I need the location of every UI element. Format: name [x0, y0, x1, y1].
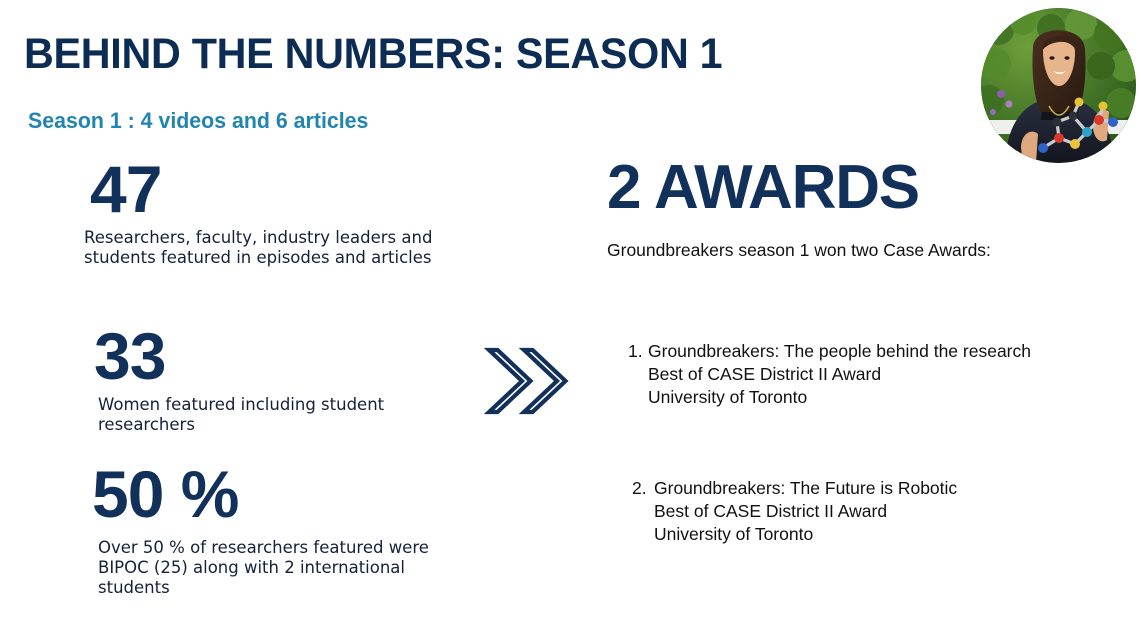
- stat-description: Researchers, faculty, industry leaders a…: [84, 228, 456, 268]
- awards-column: 2 AWARDS Groundbreakers season 1 won two…: [607, 158, 1107, 262]
- awards-intro-text: Groundbreakers season 1 won two Case Awa…: [607, 239, 1007, 262]
- list-item: 2. Groundbreakers: The Future is Robotic…: [632, 477, 957, 546]
- award-institution: University of Toronto: [654, 523, 957, 546]
- list-item-body: Groundbreakers: The people behind the re…: [648, 340, 1031, 409]
- list-item-marker: 1.: [628, 340, 648, 363]
- award-title: Groundbreakers: The people behind the re…: [648, 340, 1031, 363]
- slide-canvas: BEHIND THE NUMBERS: SEASON 1 Season 1 : …: [0, 0, 1141, 639]
- page-subtitle: Season 1 : 4 videos and 6 articles: [28, 109, 368, 133]
- page-title: BEHIND THE NUMBERS: SEASON 1: [24, 33, 722, 76]
- award-name: Best of CASE District II Award: [654, 500, 957, 523]
- stat-number: 47: [84, 158, 484, 221]
- award-title: Groundbreakers: The Future is Robotic: [654, 477, 957, 500]
- portrait-photo: [981, 8, 1136, 163]
- stat-description: Over 50 % of researchers featured were B…: [84, 538, 480, 598]
- award-institution: University of Toronto: [648, 386, 1031, 409]
- stat-block: 50 % Over 50 % of researchers featured w…: [84, 463, 484, 598]
- list-item-body: Groundbreakers: The Future is Robotic Be…: [654, 477, 957, 546]
- list-item-marker: 2.: [632, 477, 654, 500]
- stat-number: 50 %: [84, 463, 484, 526]
- stat-block: 33 Women featured including student rese…: [84, 325, 484, 435]
- award-name: Best of CASE District II Award: [648, 363, 1031, 386]
- double-chevron-right-icon: [484, 342, 574, 420]
- stat-number: 33: [84, 325, 484, 388]
- stat-description: Women featured including student researc…: [84, 395, 468, 435]
- stat-block: 47 Researchers, faculty, industry leader…: [84, 158, 484, 268]
- awards-heading: 2 AWARDS: [607, 158, 1107, 219]
- list-item: 1. Groundbreakers: The people behind the…: [628, 340, 1031, 409]
